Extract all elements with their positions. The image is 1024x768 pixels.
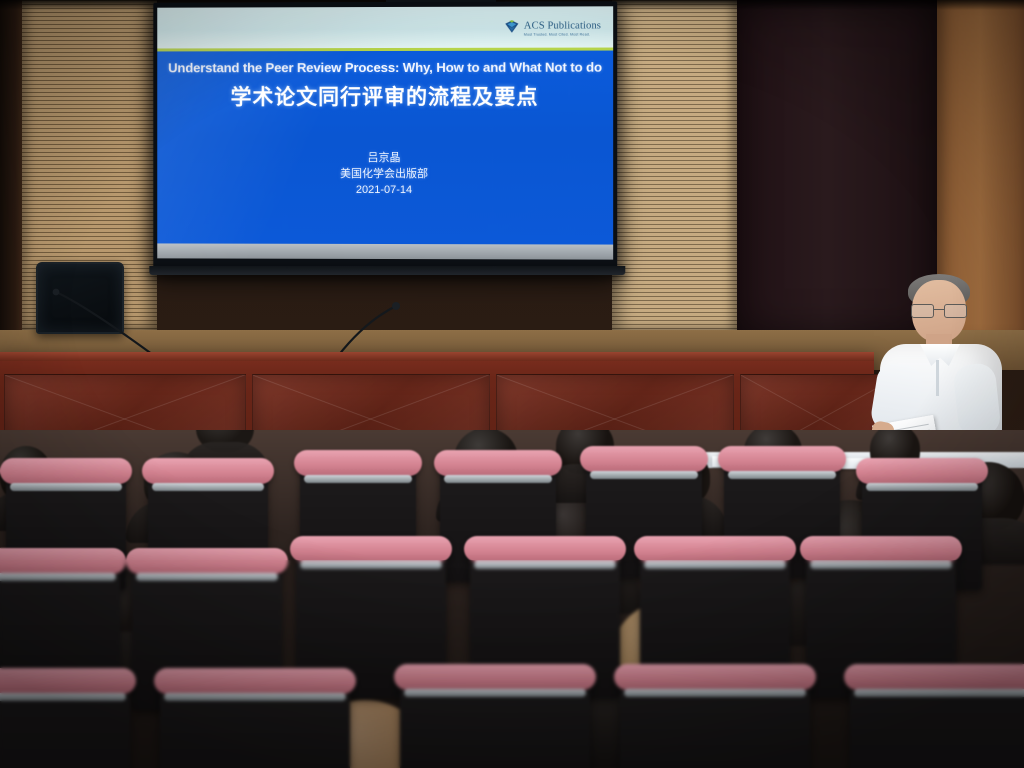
lecture-hall-photo: ACS Publications Most Trusted. Most Cite…	[0, 0, 1024, 768]
seat-headrest	[844, 664, 1024, 690]
seat-headrest	[0, 668, 136, 694]
seat-headrest	[800, 536, 962, 562]
seat-chrome-trim	[866, 483, 978, 491]
seat-chrome-trim	[624, 689, 806, 697]
screen-bottom-frame	[149, 266, 625, 275]
slide-surface: ACS Publications Most Trusted. Most Cite…	[157, 6, 613, 259]
seat-chrome-trim	[164, 693, 346, 701]
slide-title-chinese: 学术论文同行评审的流程及要点	[157, 81, 613, 111]
seat-headrest	[434, 450, 562, 476]
seat-chrome-trim	[10, 483, 122, 491]
seat-headrest	[634, 536, 796, 562]
acoustic-panel-right	[612, 0, 737, 332]
slide-title-english: Understand the Peer Review Process: Why,…	[157, 60, 613, 76]
auditorium-seat[interactable]	[850, 676, 1024, 768]
seat-headrest	[126, 548, 288, 574]
presenter-right-arm	[952, 362, 1001, 438]
auditorium-seat[interactable]	[160, 680, 350, 768]
seat-chrome-trim	[728, 471, 836, 479]
acs-diamond-icon	[505, 20, 520, 34]
seat-headrest	[464, 536, 626, 562]
projection-screen: ACS Publications Most Trusted. Most Cite…	[153, 1, 617, 274]
seat-headrest	[142, 458, 274, 484]
podium-top-lip	[0, 352, 874, 361]
seat-headrest	[154, 668, 356, 694]
acs-logo-title: ACS Publications	[524, 20, 601, 31]
seat-headrest	[290, 536, 452, 562]
seat-headrest	[0, 548, 126, 574]
slide-presenter-org: 美国化学会出版部	[157, 166, 613, 182]
presenter-glasses-icon	[910, 304, 968, 316]
seat-headrest	[580, 446, 708, 472]
people-layer	[0, 430, 1024, 768]
acs-publications-logo: ACS Publications Most Trusted. Most Cite…	[505, 16, 601, 37]
seat-chrome-trim	[444, 475, 552, 483]
seat-chrome-trim	[0, 573, 116, 581]
seat-chrome-trim	[152, 483, 264, 491]
screen-bottom-reflection	[157, 243, 613, 259]
slide-presenter-name: 吕京晶	[157, 150, 613, 166]
seat-chrome-trim	[854, 689, 1024, 697]
seat-chrome-trim	[474, 561, 616, 569]
seat-headrest	[856, 458, 988, 484]
seat-chrome-trim	[590, 471, 698, 479]
slide-date: 2021-07-14	[157, 182, 613, 199]
slide-body	[157, 51, 613, 245]
seat-headrest	[394, 664, 596, 690]
acs-logo-text: ACS Publications Most Trusted. Most Cite…	[524, 16, 601, 37]
auditorium-seat[interactable]	[0, 680, 130, 768]
seat-headrest	[294, 450, 422, 476]
auditorium-seat[interactable]	[400, 676, 590, 768]
seated-audience	[0, 430, 1024, 768]
seat-chrome-trim	[404, 689, 586, 697]
seat-chrome-trim	[300, 561, 442, 569]
wall-pillar-left	[0, 0, 22, 340]
seat-headrest	[718, 446, 846, 472]
seat-chrome-trim	[136, 573, 278, 581]
seat-headrest	[614, 664, 816, 690]
acs-logo-tagline: Most Trusted. Most Cited. Most Read.	[524, 33, 601, 37]
auditorium-seat[interactable]	[620, 676, 810, 768]
presenter-placket	[936, 360, 939, 396]
seat-chrome-trim	[304, 475, 412, 483]
slide-presenter-block: 吕京晶 美国化学会出版部 2021-07-14	[157, 150, 613, 198]
seat-headrest	[0, 458, 132, 484]
seat-chrome-trim	[0, 693, 126, 701]
seat-chrome-trim	[644, 561, 786, 569]
seat-chrome-trim	[810, 561, 952, 569]
